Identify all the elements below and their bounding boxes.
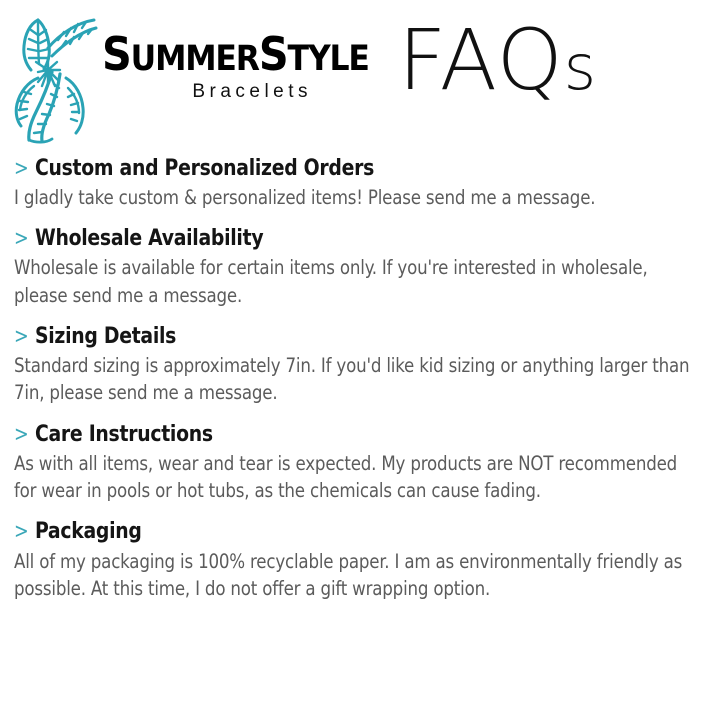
page-header: SUMMERSTYLE Bracelets FAQs (0, 0, 720, 148)
faq-answer: Wholesale is available for certain items… (14, 254, 702, 309)
chevron-right-icon: > (14, 424, 28, 445)
faq-item: > Wholesale Availability Wholesale is av… (14, 225, 704, 309)
faq-question-label: Custom and Personalized Orders (35, 155, 374, 181)
faq-question-label: Wholesale Availability (35, 225, 263, 251)
page-title-suffix: s (564, 31, 597, 104)
brand-name: SUMMERSTYLE (102, 34, 369, 76)
faq-question[interactable]: > Packaging (14, 518, 656, 544)
chevron-right-icon: > (14, 158, 28, 179)
faq-question-label: Care Instructions (35, 421, 213, 447)
palm-tree-icon (8, 8, 110, 144)
chevron-right-icon: > (14, 326, 28, 347)
faq-question[interactable]: > Sizing Details (14, 323, 656, 349)
chevron-right-icon: > (14, 521, 28, 542)
faq-answer: All of my packaging is 100% recyclable p… (14, 548, 702, 603)
faq-answer: I gladly take custom & personalized item… (14, 184, 702, 211)
page-title: FAQs (398, 18, 597, 102)
brand-name-ummer: UMMER (131, 39, 259, 79)
faq-question[interactable]: > Care Instructions (14, 421, 656, 447)
faq-item: > Packaging All of my packaging is 100% … (14, 518, 704, 602)
brand-name-s2: S (259, 27, 288, 81)
faq-question-label: Sizing Details (35, 323, 176, 349)
brand-subtitle: Bracelets (192, 81, 312, 103)
faq-list: > Custom and Personalized Orders I gladl… (14, 155, 704, 602)
faq-question[interactable]: > Custom and Personalized Orders (14, 155, 656, 181)
faq-question-label: Packaging (35, 518, 142, 544)
faq-question[interactable]: > Wholesale Availability (14, 225, 656, 251)
brand-logo: SUMMERSTYLE Bracelets (8, 8, 398, 144)
chevron-right-icon: > (14, 228, 28, 249)
faq-item: > Sizing Details Standard sizing is appr… (14, 323, 704, 407)
brand-wordmark: SUMMERSTYLE Bracelets (102, 34, 398, 103)
faq-item: > Custom and Personalized Orders I gladl… (14, 155, 704, 211)
faq-answer: Standard sizing is approximately 7in. If… (14, 352, 702, 407)
page-title-main: FAQ (398, 11, 564, 109)
faq-item: > Care Instructions As with all items, w… (14, 421, 704, 505)
faq-answer: As with all items, wear and tear is expe… (14, 450, 702, 505)
brand-name-tyle: TYLE (288, 39, 369, 79)
faq-page: SUMMERSTYLE Bracelets FAQs > Custom and … (0, 0, 720, 720)
brand-name-s1: S (102, 27, 131, 81)
